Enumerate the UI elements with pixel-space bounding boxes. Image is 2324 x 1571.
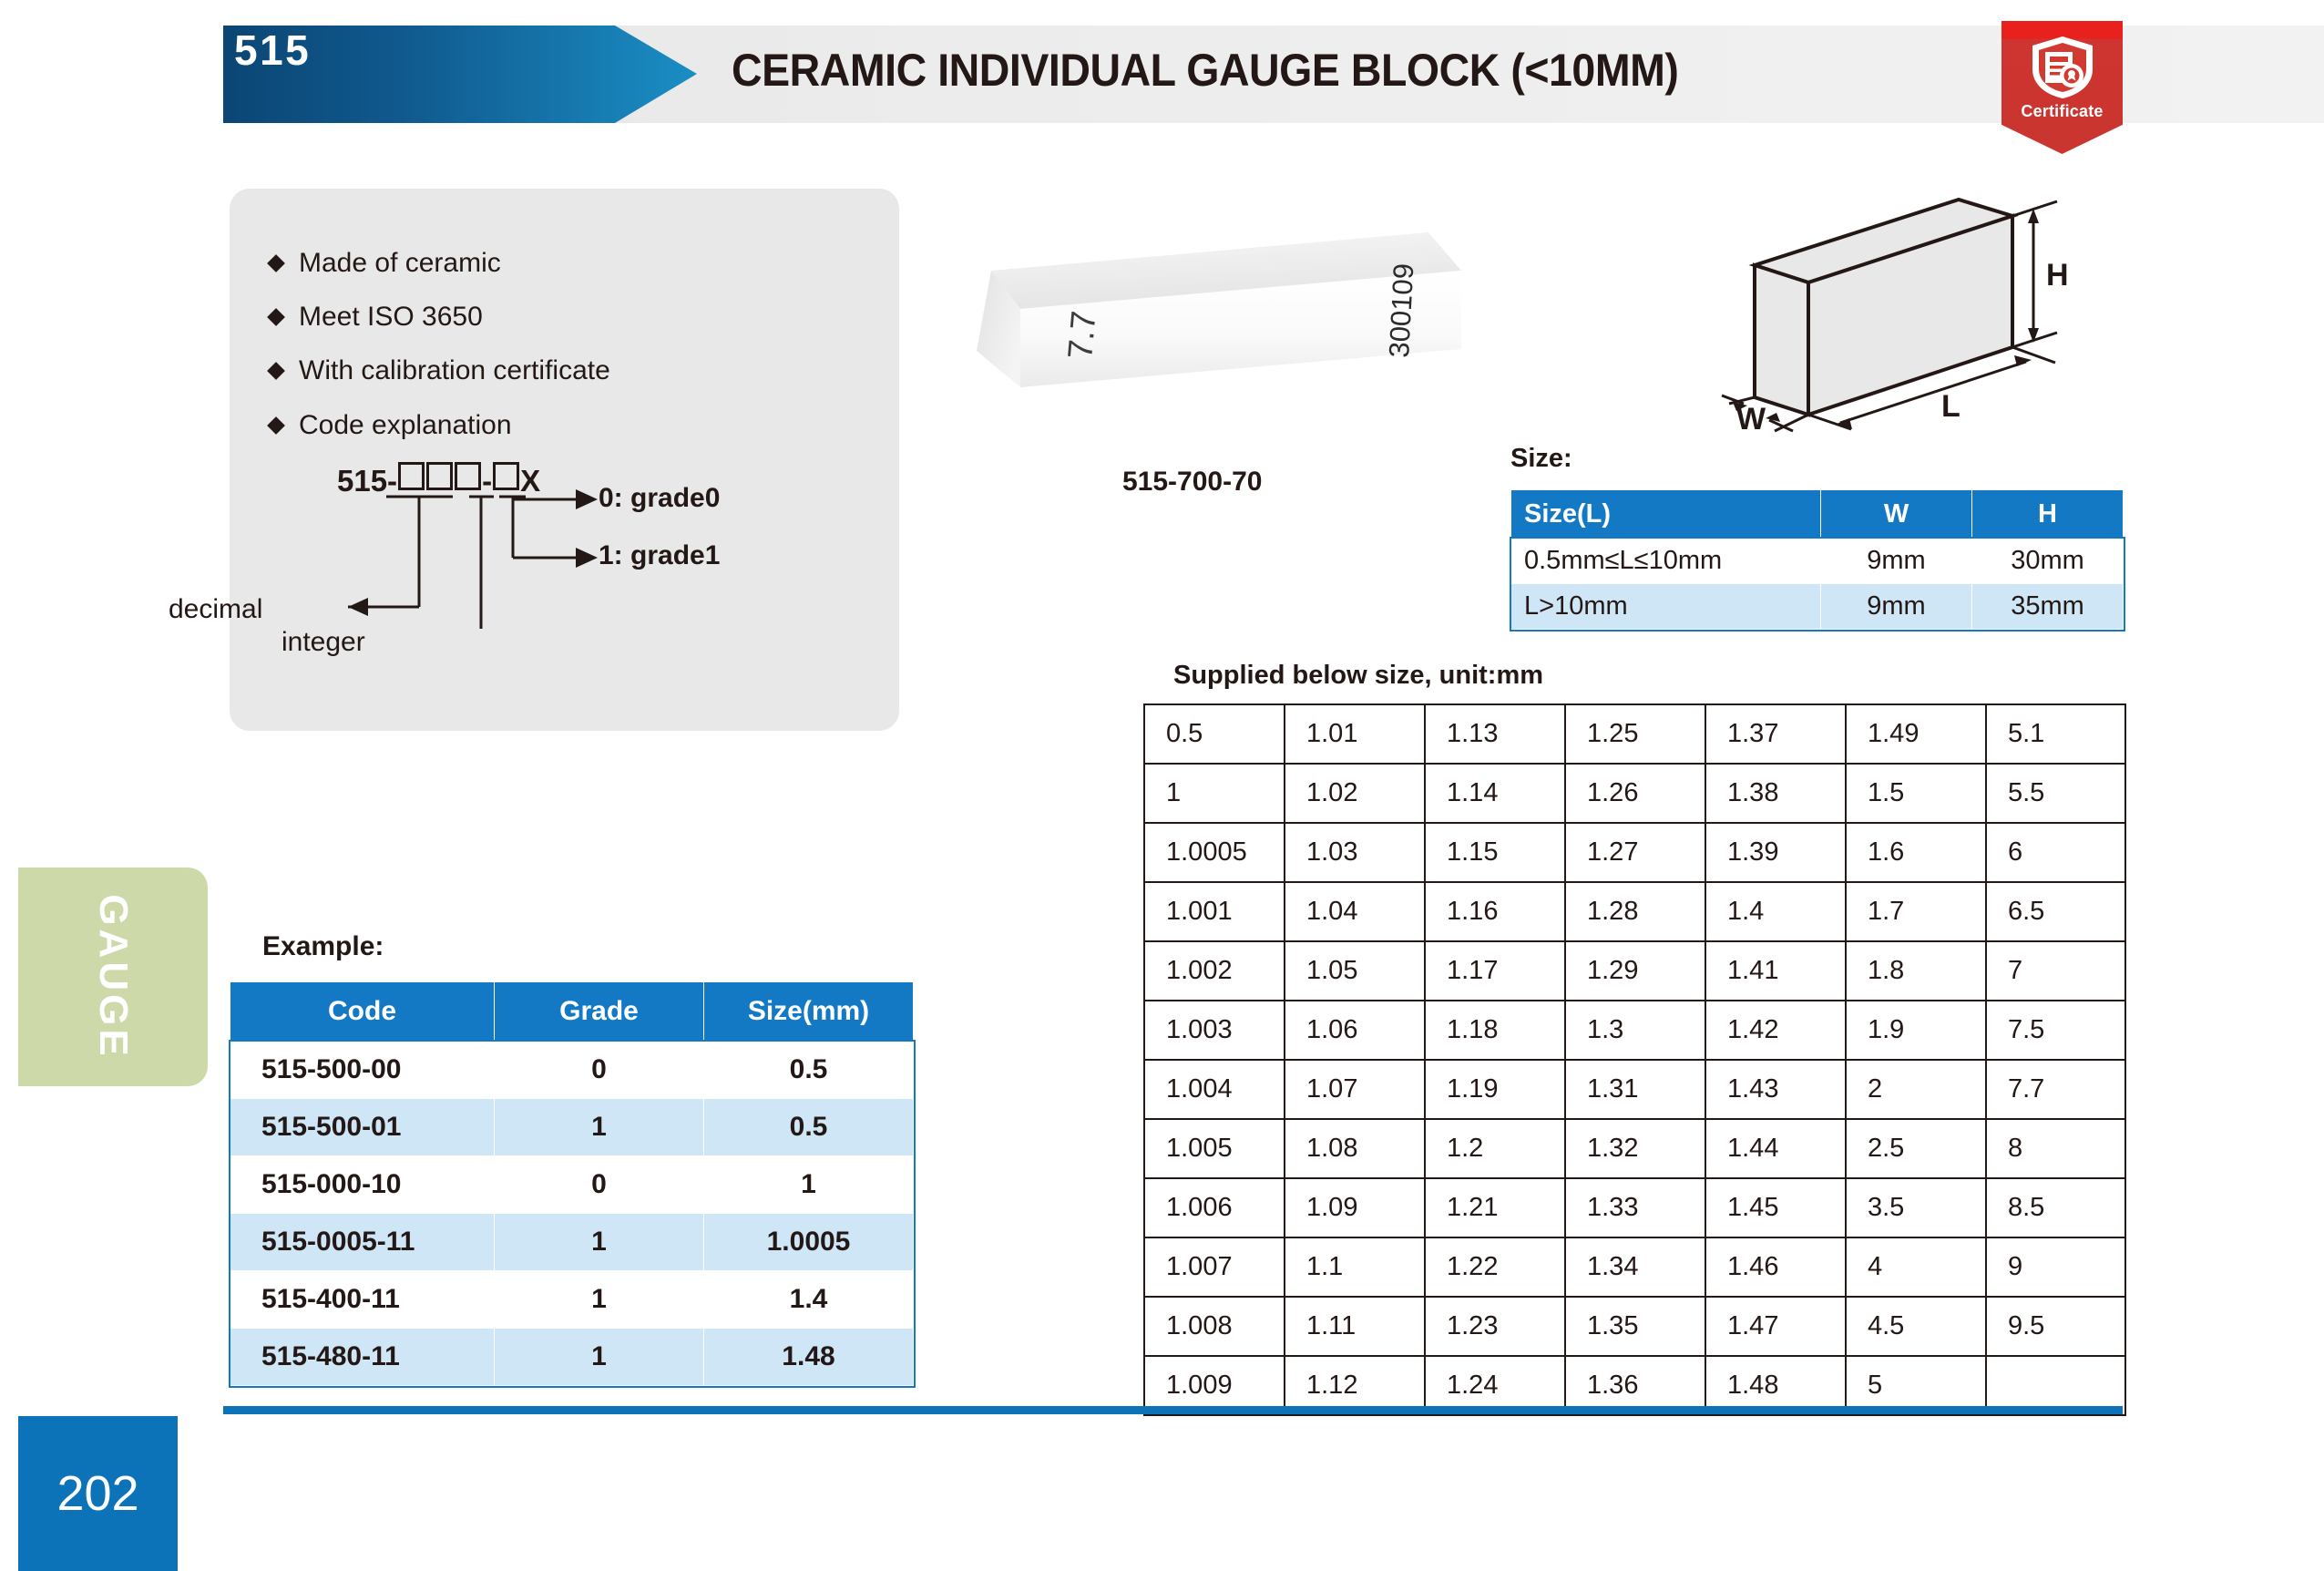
size-col-header-w: W [1821,490,1972,539]
code-connector-lines [230,447,899,731]
grade1-label: 1: grade1 [599,540,720,571]
size-cell: L>10mm [1511,584,1821,630]
sidebar-category-label: GAUGE [18,868,208,1086]
example-col-header-size: Size(mm) [704,982,914,1042]
table-row: 515-480-1111.48 [230,1329,914,1386]
feature-item-0: Made of ceramic [270,248,501,279]
example-col-header-code: Code [230,982,495,1042]
example-cell: 1 [704,1156,914,1214]
supplied-size-cell: 7 [1986,941,2125,1001]
series-label: SERIES 515 [53,26,311,75]
example-table-header-row: Code Grade Size(mm) [230,982,914,1042]
supplied-size-cell: 1.004 [1144,1060,1285,1119]
supplied-size-cell: 2 [1846,1060,1986,1119]
supplied-size-cell: 1.27 [1565,823,1705,882]
table-row: 0.5mm≤L≤10mm 9mm 30mm [1511,539,2124,584]
supplied-size-cell: 5.1 [1986,704,2125,764]
example-cell: 1.48 [704,1329,914,1386]
supplied-size-cell: 7.5 [1986,1001,2125,1060]
size-cell: 35mm [1972,584,2124,630]
table-row: 1.0021.051.171.291.411.87 [1144,941,2125,1001]
supplied-size-cell: 1.47 [1705,1297,1846,1356]
supplied-size-cell: 1.33 [1565,1178,1705,1237]
example-col-header-grade: Grade [495,982,704,1042]
supplied-size-cell: 1.003 [1144,1001,1285,1060]
supplied-size-cell: 8 [1986,1119,2125,1178]
size-cell: 9mm [1821,584,1972,630]
feature-label: With calibration certificate [299,355,610,385]
example-cell: 515-400-11 [230,1271,495,1329]
supplied-size-cell: 1.35 [1565,1297,1705,1356]
supplied-table-heading: Supplied below size, unit:mm [1173,661,1543,691]
table-row: 1.0051.081.21.321.442.58 [1144,1119,2125,1178]
example-cell: 515-500-01 [230,1099,495,1156]
supplied-size-cell: 1.3 [1565,1001,1705,1060]
feature-item-3: Code explanation [270,410,512,441]
supplied-size-cell: 1.005 [1144,1119,1285,1178]
product-caption: 515-700-70 [1122,467,1262,498]
table-row: 0.51.011.131.251.371.495.1 [1144,704,2125,764]
supplied-size-cell: 1.09 [1285,1178,1425,1237]
supplied-size-cell: 5.5 [1986,764,2125,823]
supplied-size-cell: 1.1 [1285,1237,1425,1297]
supplied-size-cell: 2.5 [1846,1119,1986,1178]
supplied-size-cell: 6.5 [1986,882,2125,941]
size-cell: 30mm [1972,539,2124,584]
table-row: 1.0041.071.191.311.4327.7 [1144,1060,2125,1119]
table-row: 515-500-0110.5 [230,1099,914,1156]
table-row: L>10mm 9mm 35mm [1511,584,2124,630]
supplied-size-cell: 1.17 [1425,941,1565,1001]
table-row: 515-000-1001 [230,1156,914,1214]
product-photo-gauge-block: 7.7 300109 [955,214,1474,442]
example-cell: 1 [495,1329,704,1386]
supplied-size-cell: 1.23 [1425,1297,1565,1356]
supplied-size-cell: 1.38 [1705,764,1846,823]
footer-rule [223,1406,2123,1414]
size-cell: 0.5mm≤L≤10mm [1511,539,1821,584]
supplied-size-cell: 4 [1846,1237,1986,1297]
size-table: Size(L) W H 0.5mm≤L≤10mm 9mm 30mm L>10mm… [1510,489,2124,630]
feature-item-2: With calibration certificate [270,355,610,386]
engraving-serial: 300109 [1383,262,1419,358]
supplied-size-cell: 1.002 [1144,941,1285,1001]
example-cell: 0.5 [704,1042,914,1099]
supplied-size-cell: 1.01 [1285,704,1425,764]
supplied-size-cell: 1.49 [1846,704,1986,764]
dimension-label-w: W [1736,402,1766,436]
diamond-bullet-icon [267,308,285,326]
supplied-size-cell: 1.8 [1846,941,1986,1001]
supplied-size-cell: 1.14 [1425,764,1565,823]
example-cell: 1 [495,1099,704,1156]
engraving-size: 7.7 [1061,309,1103,360]
table-row: 1.0031.061.181.31.421.97.5 [1144,1001,2125,1060]
supplied-size-cell: 1.45 [1705,1178,1846,1237]
example-table-heading: Example: [262,931,384,962]
diamond-bullet-icon [267,362,285,380]
table-row: 515-500-0000.5 [230,1042,914,1099]
supplied-size-cell: 1.26 [1565,764,1705,823]
supplied-size-cell: 1.39 [1705,823,1846,882]
supplied-size-cell: 1.44 [1705,1119,1846,1178]
size-cell: 9mm [1821,539,1972,584]
supplied-size-cell: 1.13 [1425,704,1565,764]
supplied-size-cell: 1.18 [1425,1001,1565,1060]
supplied-size-cell: 1.007 [1144,1237,1285,1297]
table-row: 515-400-1111.4 [230,1271,914,1329]
example-cell: 0 [495,1156,704,1214]
supplied-size-cell: 9 [1986,1237,2125,1297]
supplied-size-cell: 1.05 [1285,941,1425,1001]
example-cell: 0.5 [704,1099,914,1156]
supplied-size-cell: 1.31 [1565,1060,1705,1119]
supplied-size-cell: 1.28 [1565,882,1705,941]
supplied-size-cell: 1.37 [1705,704,1846,764]
diamond-bullet-icon [267,416,285,435]
decimal-label: decimal [169,594,262,625]
supplied-size-cell: 7.7 [1986,1060,2125,1119]
size-table-header-row: Size(L) W H [1511,490,2124,539]
supplied-size-cell: 1.006 [1144,1178,1285,1237]
example-cell: 0 [495,1042,704,1099]
supplied-size-cell: 1.25 [1565,704,1705,764]
example-table: Code Grade Size(mm) 515-500-0000.5515-50… [230,981,914,1386]
supplied-size-cell: 4.5 [1846,1297,1986,1356]
supplied-size-cell: 1.4 [1705,882,1846,941]
example-cell: 515-0005-11 [230,1214,495,1271]
feature-label: Made of ceramic [299,248,501,278]
table-row: 1.0061.091.211.331.453.58.5 [1144,1178,2125,1237]
supplied-size-cell: 3.5 [1846,1178,1986,1237]
size-col-header-h: H [1972,490,2124,539]
supplied-size-cell: 1.43 [1705,1060,1846,1119]
example-cell: 515-480-11 [230,1329,495,1386]
supplied-size-cell: 1.42 [1705,1001,1846,1060]
supplied-size-cell: 1.008 [1144,1297,1285,1356]
table-row: 11.021.141.261.381.55.5 [1144,764,2125,823]
feature-label: Meet ISO 3650 [299,302,483,332]
table-row: 1.0011.041.161.281.41.76.5 [1144,882,2125,941]
supplied-size-cell: 1.04 [1285,882,1425,941]
supplied-size-cell: 1.02 [1285,764,1425,823]
example-cell: 515-500-00 [230,1042,495,1099]
supplied-size-cell: 0.5 [1144,704,1285,764]
supplied-size-cell: 1.07 [1285,1060,1425,1119]
supplied-size-cell: 6 [1986,823,2125,882]
supplied-size-cell: 1.15 [1425,823,1565,882]
supplied-size-cell: 1.41 [1705,941,1846,1001]
feature-label: Code explanation [299,410,512,440]
table-row: 1.0071.11.221.341.4649 [1144,1237,2125,1297]
size-col-header-l: Size(L) [1511,490,1821,539]
size-table-heading: Size: [1510,444,1572,474]
supplied-size-cell: 1.11 [1285,1297,1425,1356]
grade0-label: 0: grade0 [599,483,720,514]
supplied-size-cell: 1.9 [1846,1001,1986,1060]
supplied-size-cell: 9.5 [1986,1297,2125,1356]
supplied-size-cell: 1.29 [1565,941,1705,1001]
example-cell: 1.0005 [704,1214,914,1271]
supplied-size-cell: 1.2 [1425,1119,1565,1178]
supplied-size-cell: 1.46 [1705,1237,1846,1297]
supplied-size-cell: 1.06 [1285,1001,1425,1060]
supplied-size-cell: 1.34 [1565,1237,1705,1297]
code-explanation-diagram: 515--X 0: grade0 1: grade1 decimal integ… [230,447,899,731]
supplied-size-cell: 1.08 [1285,1119,1425,1178]
isometric-block-drawing: H L W [1713,196,2123,460]
supplied-size-cell: 1.19 [1425,1060,1565,1119]
table-row: 1.0081.111.231.351.474.59.5 [1144,1297,2125,1356]
diamond-bullet-icon [267,254,285,272]
supplied-size-cell: 8.5 [1986,1178,2125,1237]
integer-label: integer [282,627,365,658]
supplied-size-cell: 1.21 [1425,1178,1565,1237]
supplied-size-cell: 1.6 [1846,823,1986,882]
example-cell: 515-000-10 [230,1156,495,1214]
certificate-label: Certificate [2002,102,2123,121]
supplied-size-cell: 1.32 [1565,1119,1705,1178]
supplied-size-cell: 1.7 [1846,882,1986,941]
feature-item-1: Meet ISO 3650 [270,302,483,333]
supplied-size-cell: 1.22 [1425,1237,1565,1297]
table-row: 1.00051.031.151.271.391.66 [1144,823,2125,882]
supplied-size-cell: 1.03 [1285,823,1425,882]
dimension-label-l: L [1941,389,1961,424]
example-cell: 1.4 [704,1271,914,1329]
example-cell: 1 [495,1271,704,1329]
shield-document-seal-icon [2027,35,2098,100]
supplied-size-cell: 1.5 [1846,764,1986,823]
dimension-label-h: H [2046,258,2069,293]
table-row: 515-0005-1111.0005 [230,1214,914,1271]
page-number: 202 [18,1416,178,1571]
supplied-size-cell: 1.0005 [1144,823,1285,882]
supplied-size-cell: 1.16 [1425,882,1565,941]
supplied-size-cell: 1.001 [1144,882,1285,941]
page-title: CERAMIC INDIVIDUAL GAUGE BLOCK (<10MM) [732,44,1678,97]
example-cell: 1 [495,1214,704,1271]
supplied-sizes-table: 0.51.011.131.251.371.495.111.021.141.261… [1143,703,2126,1416]
supplied-size-cell: 1 [1144,764,1285,823]
